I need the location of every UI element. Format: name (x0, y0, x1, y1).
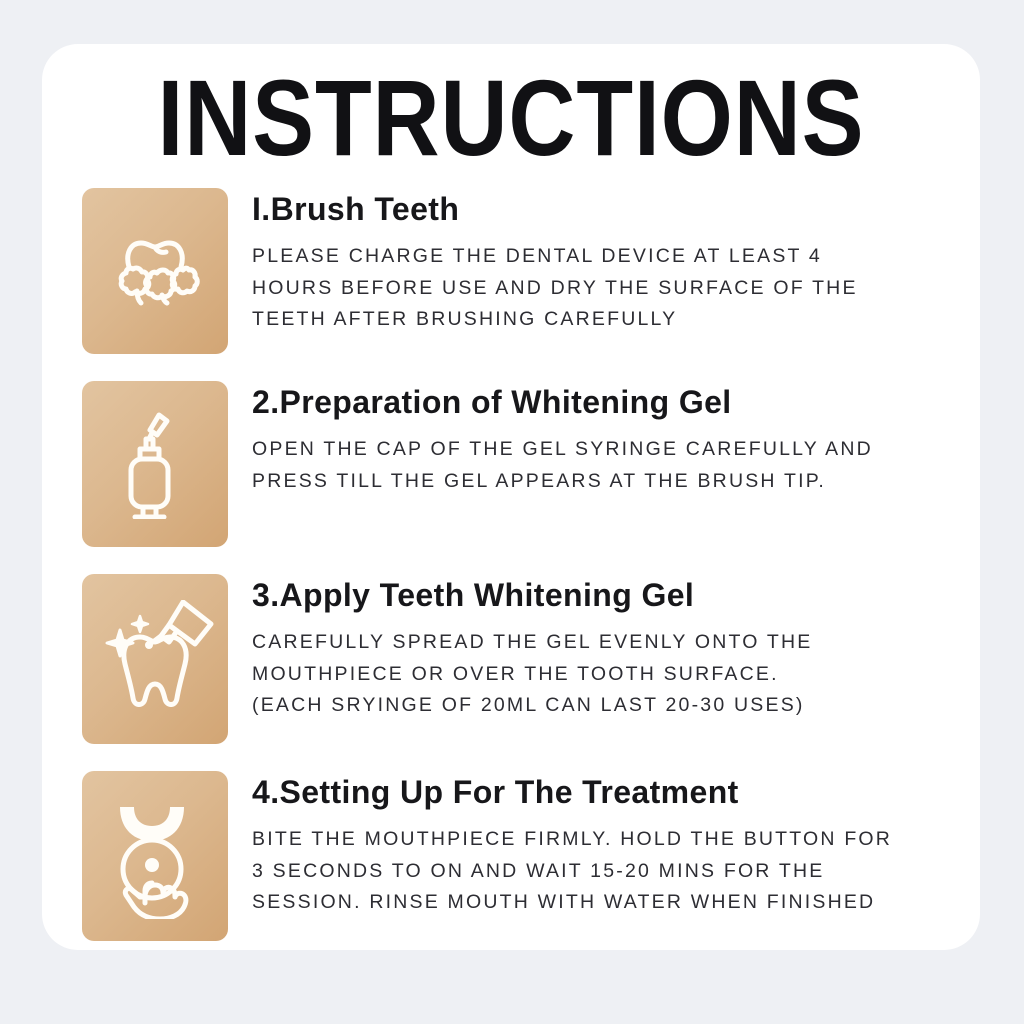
step-2-description: OPEN THE CAP OF THE GEL SYRINGE CAREFULL… (252, 434, 970, 497)
step-3-body: 3.Apply Teeth Whitening Gel CAREFULLY SP… (228, 574, 970, 722)
step-item-3: 3.Apply Teeth Whitening Gel CAREFULLY SP… (82, 574, 970, 744)
step-2-line-1: OPEN THE CAP OF THE GEL SYRINGE CAREFULL… (252, 434, 970, 466)
step-2-icon-tile (82, 381, 228, 547)
step-4-icon-tile (82, 771, 228, 941)
step-3-line-3: (EACH SRYINGE OF 20ML CAN LAST 20-30 USE… (252, 690, 970, 722)
step-4-line-3: SESSION. RINSE MOUTH WITH WATER WHEN FIN… (252, 887, 970, 919)
instructions-page: INSTRUCTIONS (0, 0, 1024, 1024)
gel-syringe-icon (107, 409, 203, 519)
step-4-description: BITE THE MOUTHPIECE FIRMLY. HOLD THE BUT… (252, 824, 970, 919)
step-1-icon-tile (82, 188, 228, 354)
page-title: INSTRUCTIONS (108, 56, 915, 180)
step-1-line-1: PLEASE CHARGE THE DENTAL DEVICE AT LEAST… (252, 241, 970, 273)
step-1-description: PLEASE CHARGE THE DENTAL DEVICE AT LEAST… (252, 241, 970, 336)
step-3-description: CAREFULLY SPREAD THE GEL EVENLY ONTO THE… (252, 627, 970, 722)
step-4-line-1: BITE THE MOUTHPIECE FIRMLY. HOLD THE BUT… (252, 824, 970, 856)
step-item-1: I.Brush Teeth PLEASE CHARGE THE DENTAL D… (82, 188, 970, 354)
step-4-title: 4.Setting Up For The Treatment (252, 775, 970, 810)
instructions-card: INSTRUCTIONS (42, 44, 980, 950)
tooth-with-gel-applicator-icon (95, 600, 215, 718)
tooth-with-foam-icon (107, 223, 203, 319)
step-1-line-2: HOURS BEFORE USE AND DRY THE SURFACE OF … (252, 273, 970, 305)
step-3-line-1: CAREFULLY SPREAD THE GEL EVENLY ONTO THE (252, 627, 970, 659)
step-1-body: I.Brush Teeth PLEASE CHARGE THE DENTAL D… (228, 188, 970, 336)
step-item-4: 4.Setting Up For The Treatment BITE THE … (82, 771, 970, 941)
step-item-2: 2.Preparation of Whitening Gel OPEN THE … (82, 381, 970, 547)
step-1-title: I.Brush Teeth (252, 192, 970, 227)
step-4-body: 4.Setting Up For The Treatment BITE THE … (228, 771, 970, 919)
step-2-title: 2.Preparation of Whitening Gel (252, 385, 970, 420)
step-4-line-2: 3 SECONDS TO ON AND WAIT 15-20 MINS FOR … (252, 856, 970, 888)
step-2-body: 2.Preparation of Whitening Gel OPEN THE … (228, 381, 970, 497)
step-3-line-2: MOUTHPIECE OR OVER THE TOOTH SURFACE. (252, 659, 970, 691)
mouthpiece-button-press-icon (100, 793, 210, 919)
steps-list: I.Brush Teeth PLEASE CHARGE THE DENTAL D… (82, 188, 970, 965)
step-2-line-2: PRESS TILL THE GEL APPEARS AT THE BRUSH … (252, 466, 970, 498)
step-3-title: 3.Apply Teeth Whitening Gel (252, 578, 970, 613)
step-3-icon-tile (82, 574, 228, 744)
step-1-line-3: TEETH AFTER BRUSHING CAREFULLY (252, 304, 970, 336)
